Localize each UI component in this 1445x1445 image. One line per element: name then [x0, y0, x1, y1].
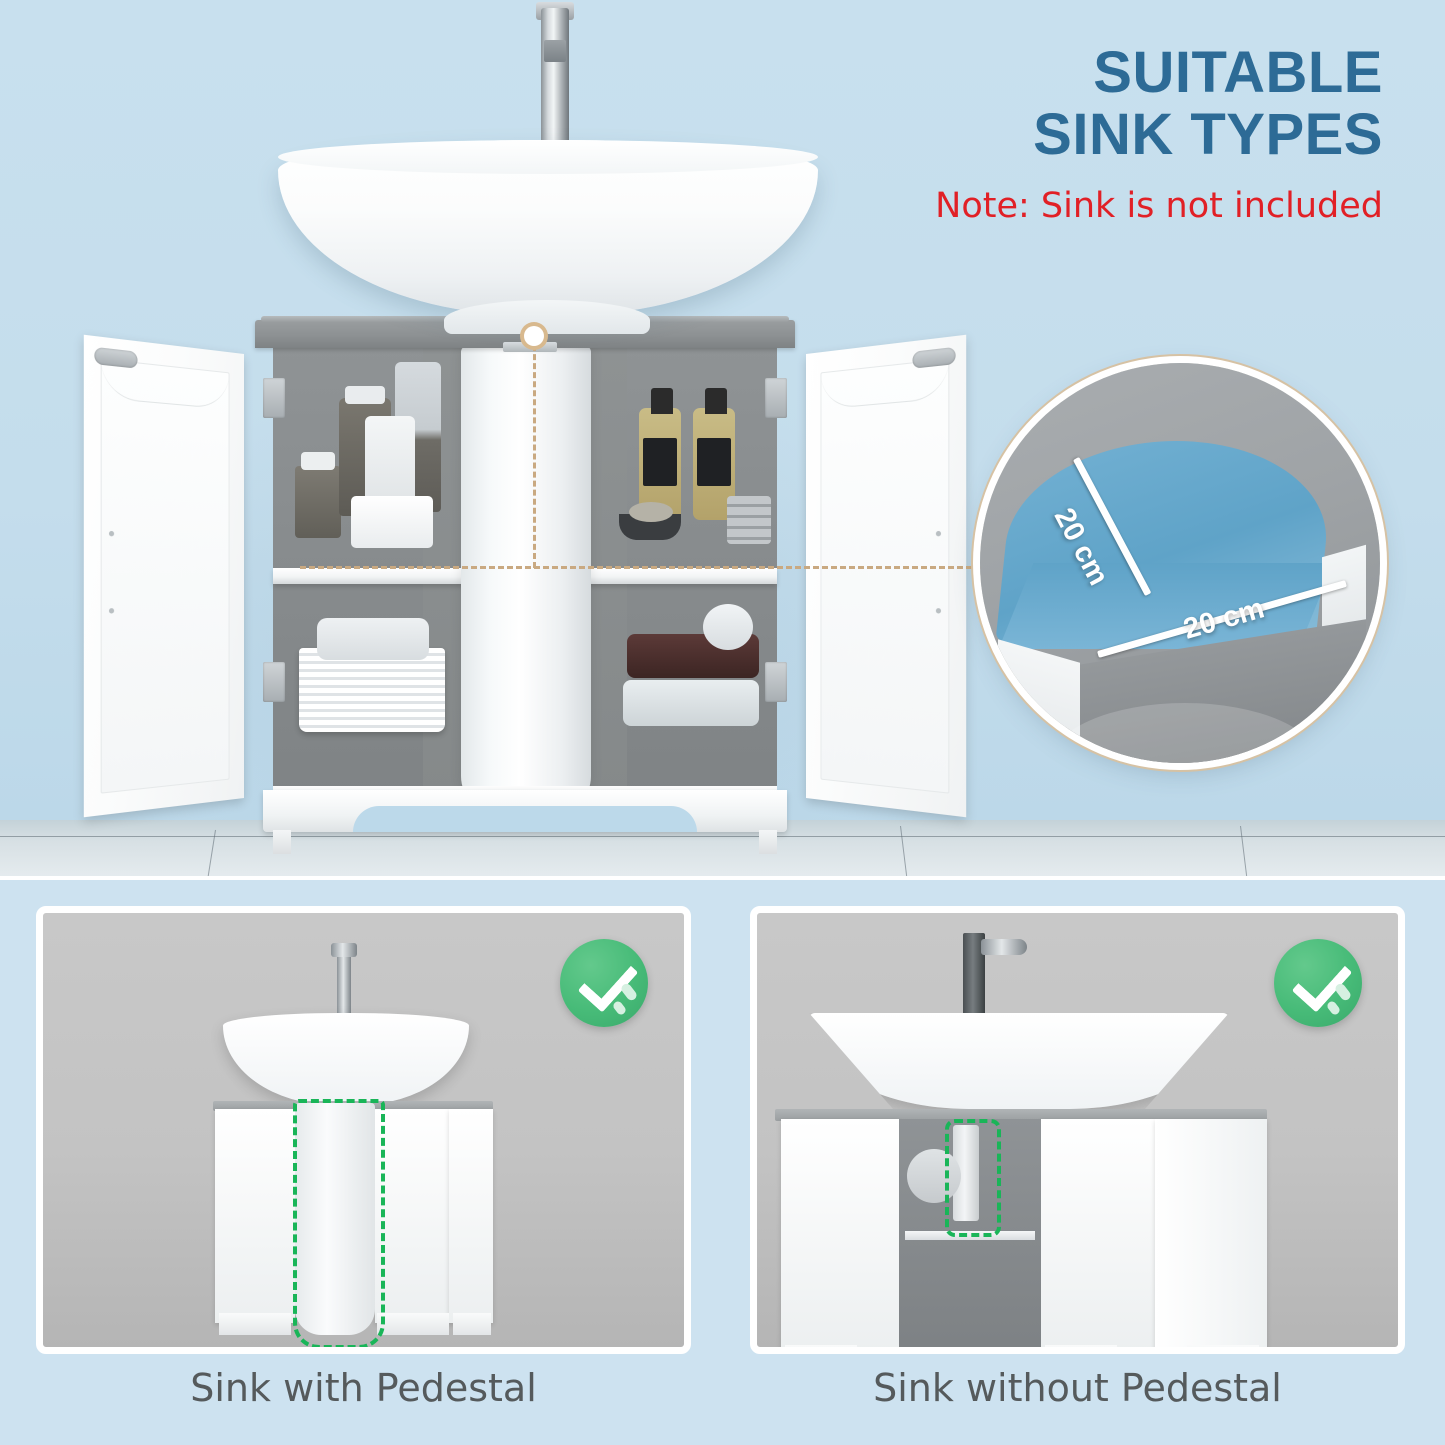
- cabinet-door-right[interactable]: [1041, 1119, 1155, 1354]
- page-title-line-2: SINK TYPES: [935, 104, 1383, 166]
- check-sparkle: [1326, 1000, 1342, 1017]
- stacked-dishes: [727, 496, 771, 544]
- cabinet-door-left[interactable]: [84, 335, 244, 818]
- sink-rim: [278, 140, 818, 174]
- carcass-hinge-top-left: [263, 378, 285, 418]
- sink-basin: [809, 1013, 1229, 1109]
- cabinet-door-left[interactable]: [781, 1119, 899, 1354]
- cabinet-side-panel: [1155, 1119, 1267, 1354]
- check-glyph: [1292, 950, 1353, 1012]
- sink-basin: [223, 1013, 469, 1105]
- dispenser-label-2: [697, 438, 731, 486]
- check-glyph: [578, 950, 639, 1012]
- dispenser-cap-1: [651, 388, 673, 414]
- plumbing-highlight-outline: [945, 1119, 1001, 1237]
- comparison-section: Sink with Pedestal Sink without: [0, 880, 1445, 1445]
- door-screw: [109, 608, 114, 613]
- floor-grout-line: [1240, 826, 1248, 880]
- carcass-hinge-bottom-left: [263, 662, 285, 702]
- wicker-basket: [299, 648, 445, 732]
- dispenser-cap-2: [705, 388, 727, 414]
- shampoo-bottle-medium-cap: [345, 386, 385, 404]
- infographic-page: SUITABLE SINK TYPES Note: Sink is not in…: [0, 0, 1445, 1445]
- faucet-icon: [541, 8, 569, 158]
- cabinet-side-panel: [449, 1109, 493, 1323]
- cabinet-leg-left: [785, 1345, 857, 1354]
- soap-bar: [629, 502, 673, 522]
- shampoo-jar-small-cap: [301, 452, 335, 470]
- cabinet-carcass: [273, 346, 777, 796]
- check-icon: [560, 939, 648, 1027]
- towel-rolled: [703, 604, 753, 650]
- cabinet-door-left[interactable]: [215, 1109, 295, 1323]
- sink-assembly: [268, 0, 828, 340]
- measure-guide-horizontal: [300, 566, 990, 569]
- caption-without-pedestal: Sink without Pedestal: [750, 1366, 1405, 1410]
- door-screw: [936, 608, 941, 613]
- carcass-hinge-top-right: [765, 378, 787, 418]
- door-panel-inset: [101, 358, 230, 793]
- cabinet-leg-left: [273, 830, 291, 854]
- faucet-spout: [981, 939, 1027, 955]
- pedestal-highlight-outline: [293, 1099, 385, 1349]
- shampoo-jar-small: [295, 466, 341, 538]
- door-panel-inset: [820, 358, 949, 793]
- door-screw: [109, 531, 114, 536]
- cabinet-plinth: [263, 790, 787, 832]
- cabinet-leg-right: [1187, 1345, 1259, 1354]
- check-sparkle: [620, 982, 639, 1002]
- cabinet-leg-right: [759, 830, 777, 854]
- under-sink-cabinet: [255, 320, 795, 840]
- folded-towel-in-basket: [317, 618, 429, 660]
- door-screw: [936, 531, 941, 536]
- hero-scene: SUITABLE SINK TYPES Note: Sink is not in…: [0, 0, 1445, 880]
- carcass-hinge-bottom-right: [765, 662, 787, 702]
- cabinet-door-right[interactable]: [806, 335, 966, 818]
- check-icon: [1274, 939, 1362, 1027]
- cream-jar: [351, 496, 433, 548]
- check-sparkle: [612, 1000, 628, 1017]
- floor-grout-line: [207, 830, 216, 880]
- page-title-line-1: SUITABLE: [935, 42, 1383, 104]
- measure-guide-vertical: [533, 336, 536, 568]
- measure-anchor-dot: [524, 326, 544, 346]
- title-block: SUITABLE SINK TYPES Note: Sink is not in…: [935, 42, 1383, 228]
- sink-pedestal-column: [461, 346, 591, 816]
- cabinet-leg-far-right: [453, 1313, 491, 1335]
- check-sparkle: [1334, 982, 1353, 1002]
- disclaimer-note: Note: Sink is not included: [935, 184, 1383, 228]
- dimension-callout-circle: 20 cm 20 cm: [980, 363, 1380, 763]
- comparison-panel-without-pedestal: [750, 906, 1405, 1354]
- cabinet-leg-right: [377, 1313, 449, 1335]
- cabinet-leg-middle: [1045, 1345, 1117, 1354]
- sink-foot: [444, 300, 650, 334]
- comparison-panel-with-pedestal: [36, 906, 691, 1354]
- floor-grout-line: [900, 826, 908, 880]
- cabinet-leg-left: [219, 1313, 291, 1335]
- caption-with-pedestal: Sink with Pedestal: [36, 1366, 691, 1410]
- cabinet-door-right[interactable]: [375, 1109, 449, 1323]
- faucet-cap: [331, 943, 357, 957]
- towel-white: [623, 680, 759, 726]
- dispenser-label-1: [643, 438, 677, 486]
- faucet-icon: [337, 951, 351, 1021]
- faucet-lever: [544, 40, 566, 62]
